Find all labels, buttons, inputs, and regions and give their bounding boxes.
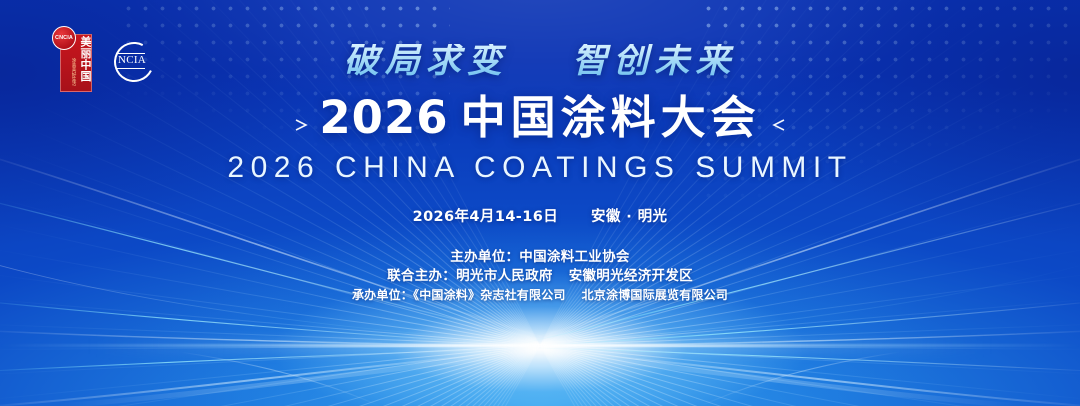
organizer-row: 承办单位：《中国涂料》杂志社有限公司北京涂博国际展览有限公司 [0, 286, 1080, 305]
organizer-row: 主办单位：中国涂料工业协会 [0, 248, 1080, 267]
organizer-name: 安徽明光经济开发区 [569, 268, 693, 284]
organizer-row: 联合主办：明光市人民政府安徽明光经济开发区 [0, 267, 1080, 286]
organizer-role: 承办单位： [352, 288, 413, 302]
conference-banner: 涂装美好生活 美丽中国 CNCIA NCIA 破局求变 智创未来 [0, 0, 1080, 406]
organizer-name: 北京涂博国际展览有限公司 [582, 288, 728, 302]
event-date: 2026年4月14-16日 [413, 209, 559, 225]
arrow-right-icon [232, 119, 312, 131]
organizer-name: 《中国涂料》杂志社有限公司 [413, 288, 566, 302]
date-location-line: 2026年4月14-16日 安徽 · 明光 [0, 205, 1080, 226]
slogan-part1: 破局求变 [344, 41, 508, 81]
page-title: 2026中国涂料大会 [0, 89, 1080, 147]
banner-content: 破局求变 智创未来 2026中国涂料大会 [0, 0, 1080, 305]
horizon-glow-blur [0, 338, 1080, 354]
organizer-role: 主办单位： [450, 249, 519, 265]
page-subtitle: 2026 CHINA COATINGS SUMMIT [0, 151, 1080, 185]
organizers-block: 主办单位：中国涂料工业协会 联合主办：明光市人民政府安徽明光经济开发区 承办单位… [0, 248, 1080, 305]
title-row: 2026中国涂料大会 [0, 89, 1080, 147]
title-year: 2026 [319, 91, 448, 144]
slogan-part2: 智创未来 [572, 41, 736, 81]
event-location: 安徽 · 明光 [591, 209, 667, 225]
organizer-role: 联合主办： [387, 268, 456, 284]
title-chinese: 中国涂料大会 [461, 91, 761, 144]
slogan: 破局求变 智创未来 [0, 44, 1080, 79]
organizer-name: 中国涂料工业协会 [519, 249, 629, 265]
arrow-left-icon [768, 119, 848, 131]
horizon-glow-line [0, 344, 1080, 347]
organizer-name: 明光市人民政府 [456, 268, 553, 284]
